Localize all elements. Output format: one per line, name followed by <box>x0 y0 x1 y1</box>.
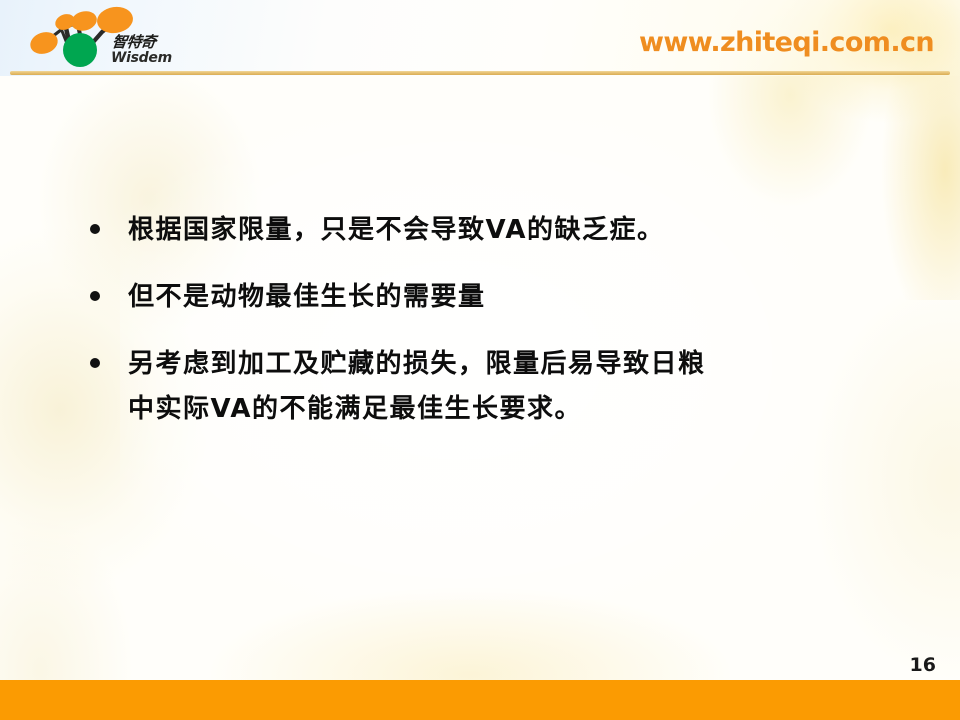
logo-english-name: Wisdem <box>111 51 191 65</box>
slide-root: 智特奇 Wisdem www.zhiteqi.com.cn 根据国家限量，只是不… <box>0 0 960 720</box>
page-number: 16 <box>910 654 936 676</box>
header-divider-rule <box>10 71 950 75</box>
list-item: 但不是动物最佳生长的需要量 <box>90 275 890 320</box>
list-item: 根据国家限量，只是不会导致VA的缺乏症。 <box>90 208 890 253</box>
bullet-dot-icon <box>90 224 100 234</box>
bullet-text: 另考虑到加工及贮藏的损失，限量后易导致日粮 中实际VA的不能满足最佳生长要求。 <box>128 342 890 432</box>
bullet-dot-icon <box>90 291 100 301</box>
company-logo: 智特奇 Wisdem <box>18 2 188 72</box>
footer-bar <box>0 680 960 720</box>
slide-content: 根据国家限量，只是不会导致VA的缺乏症。 但不是动物最佳生长的需要量 另考虑到加… <box>90 208 890 432</box>
site-url[interactable]: www.zhiteqi.com.cn <box>639 27 934 58</box>
logo-wordmark: 智特奇 Wisdem <box>111 35 191 65</box>
bullet-dot-icon <box>90 358 100 368</box>
slide-header: 智特奇 Wisdem www.zhiteqi.com.cn <box>0 0 960 76</box>
list-item: 另考虑到加工及贮藏的损失，限量后易导致日粮 中实际VA的不能满足最佳生长要求。 <box>90 342 890 432</box>
logo-chinese-name: 智特奇 <box>111 35 193 50</box>
bullet-text: 但不是动物最佳生长的需要量 <box>128 275 890 320</box>
bullet-text: 根据国家限量，只是不会导致VA的缺乏症。 <box>128 208 890 253</box>
